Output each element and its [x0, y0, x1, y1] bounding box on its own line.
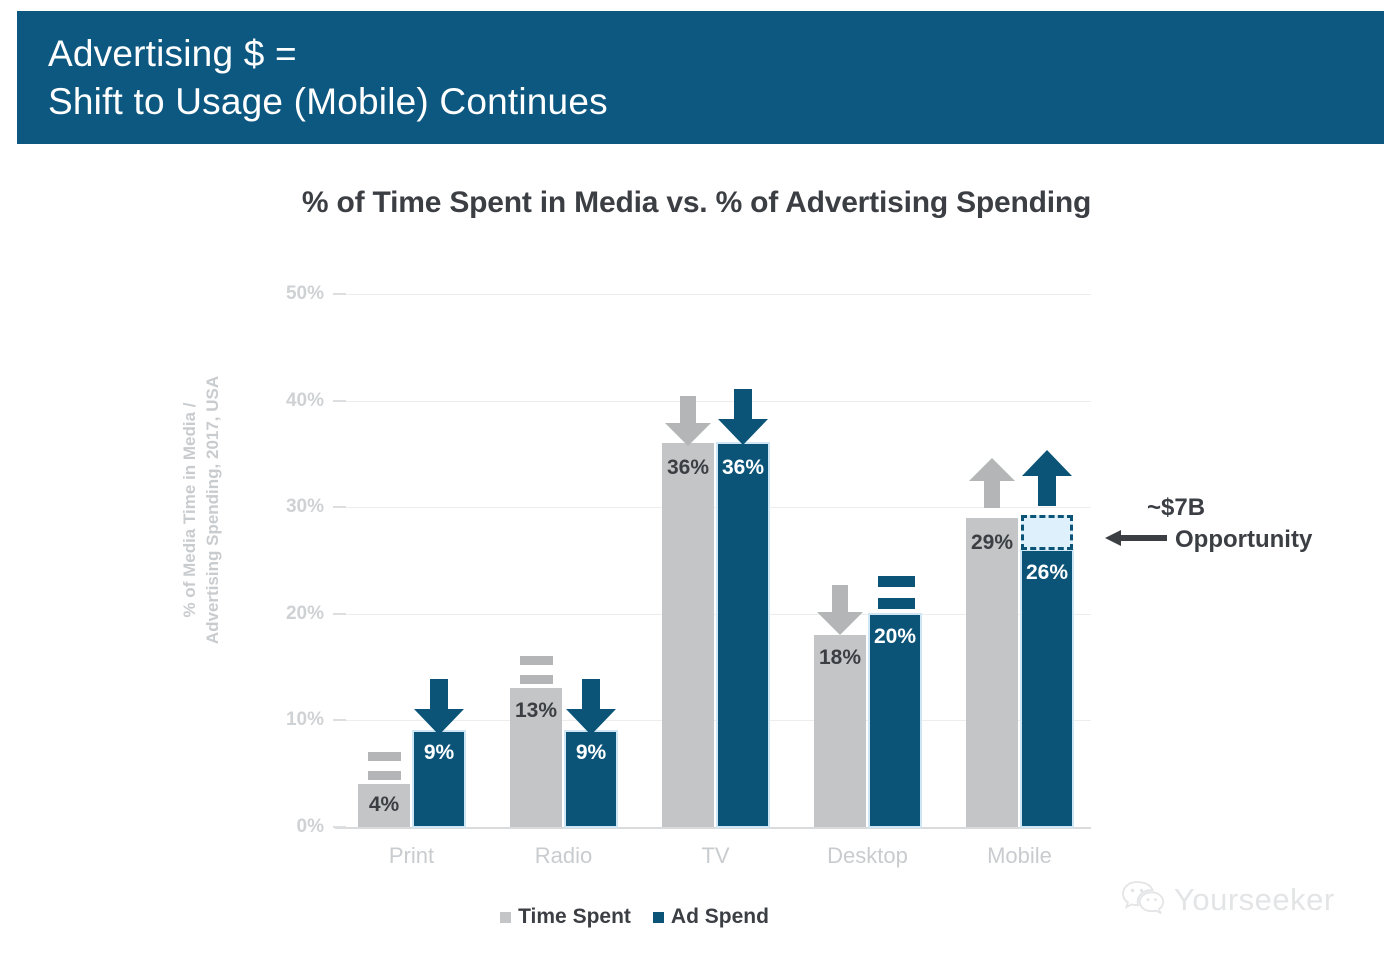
bar-mobile-time-spent[interactable]: 29%	[966, 518, 1018, 827]
y-tick-label-50: 50%	[262, 283, 324, 305]
y-axis-title: % of Media Time in Media / Advertising S…	[178, 330, 238, 690]
bar-value-radio-time-spent: 13%	[510, 699, 562, 723]
legend-item-time-spent[interactable]: Time Spent	[500, 905, 631, 929]
bar-value-radio-ad-spend: 9%	[565, 741, 617, 765]
wechat-icon	[1122, 880, 1164, 919]
opportunity-amount: ~$7B	[1105, 492, 1312, 524]
equals-icon	[878, 576, 915, 611]
bar-value-desktop-ad-spend: 20%	[869, 625, 921, 649]
bar-value-mobile-time-spent: 29%	[966, 531, 1018, 555]
bar-tv-ad-spend[interactable]: 36%	[717, 443, 769, 827]
bar-print-ad-spend[interactable]: 9%	[413, 731, 465, 827]
bar-radio-time-spent[interactable]: 13%	[510, 688, 562, 827]
opportunity-label-row: Opportunity	[1105, 524, 1312, 556]
watermark: Yourseeker	[1122, 880, 1335, 919]
bar-desktop-ad-spend[interactable]: 20%	[869, 614, 921, 827]
bar-value-mobile-ad-spend: 26%	[1021, 561, 1073, 585]
y-tick-mark-10	[333, 719, 346, 721]
bar-print-time-spent[interactable]: 4%	[358, 784, 410, 827]
y-tick-mark-20	[333, 613, 346, 615]
gridline-40	[335, 401, 1091, 402]
slide-root: Advertising $ = Shift to Usage (Mobile) …	[0, 0, 1399, 960]
y-axis-title-line2: Advertising Spending, 2017, USA	[201, 330, 224, 690]
arrow-down-icon	[566, 679, 616, 735]
y-tick-mark-30	[333, 506, 346, 508]
x-axis-label-radio: Radio	[510, 843, 617, 869]
chart-plot-area: % of Media Time in Media / Advertising S…	[0, 0, 1399, 960]
legend-label-ad-spend: Ad Spend	[671, 905, 769, 929]
x-axis-label-desktop: Desktop	[814, 843, 921, 869]
bar-radio-ad-spend[interactable]: 9%	[565, 731, 617, 827]
arrow-up-icon	[969, 458, 1015, 508]
bar-desktop-time-spent[interactable]: 18%	[814, 635, 866, 827]
arrow-down-icon	[718, 389, 768, 445]
bar-value-print-time-spent: 4%	[358, 793, 410, 817]
opportunity-annotation: ~$7B Opportunity	[1105, 492, 1312, 556]
bar-value-desktop-time-spent: 18%	[814, 646, 866, 670]
legend-swatch-icon	[653, 912, 664, 923]
gridline-50	[335, 294, 1091, 295]
y-tick-mark-40	[333, 400, 346, 402]
bar-value-tv-ad-spend: 36%	[717, 456, 769, 480]
bar-mobile-ad-spend[interactable]: 26%	[1021, 550, 1073, 827]
watermark-label: Yourseeker	[1174, 882, 1335, 918]
y-tick-label-30: 30%	[262, 496, 324, 518]
opportunity-label: Opportunity	[1175, 524, 1312, 556]
equals-icon	[368, 752, 401, 783]
y-tick-mark-50	[333, 293, 346, 295]
arrow-down-icon	[665, 396, 711, 446]
bar-tv-time-spent[interactable]: 36%	[662, 443, 714, 827]
x-axis-label-tv: TV	[662, 843, 769, 869]
axis-line-zero	[335, 827, 1091, 829]
legend-item-ad-spend[interactable]: Ad Spend	[653, 905, 769, 929]
y-tick-label-10: 10%	[262, 709, 324, 731]
x-axis-label-print: Print	[358, 843, 465, 869]
y-tick-label-40: 40%	[262, 390, 324, 412]
arrow-left-icon	[1105, 524, 1167, 556]
arrow-down-icon	[414, 679, 464, 735]
legend-swatch-icon	[500, 912, 511, 923]
arrow-down-icon	[817, 585, 863, 635]
opportunity-gap-box[interactable]	[1021, 515, 1073, 550]
arrow-up-icon	[1022, 450, 1072, 506]
y-tick-label-20: 20%	[262, 603, 324, 625]
y-axis-title-line1: % of Media Time in Media /	[178, 330, 201, 690]
y-tick-label-0: 0%	[262, 816, 324, 838]
x-axis-label-mobile: Mobile	[966, 843, 1073, 869]
bar-value-tv-time-spent: 36%	[662, 456, 714, 480]
equals-icon	[520, 656, 553, 687]
y-tick-mark-0	[333, 826, 346, 828]
legend-label-time-spent: Time Spent	[518, 905, 631, 929]
bar-value-print-ad-spend: 9%	[413, 741, 465, 765]
